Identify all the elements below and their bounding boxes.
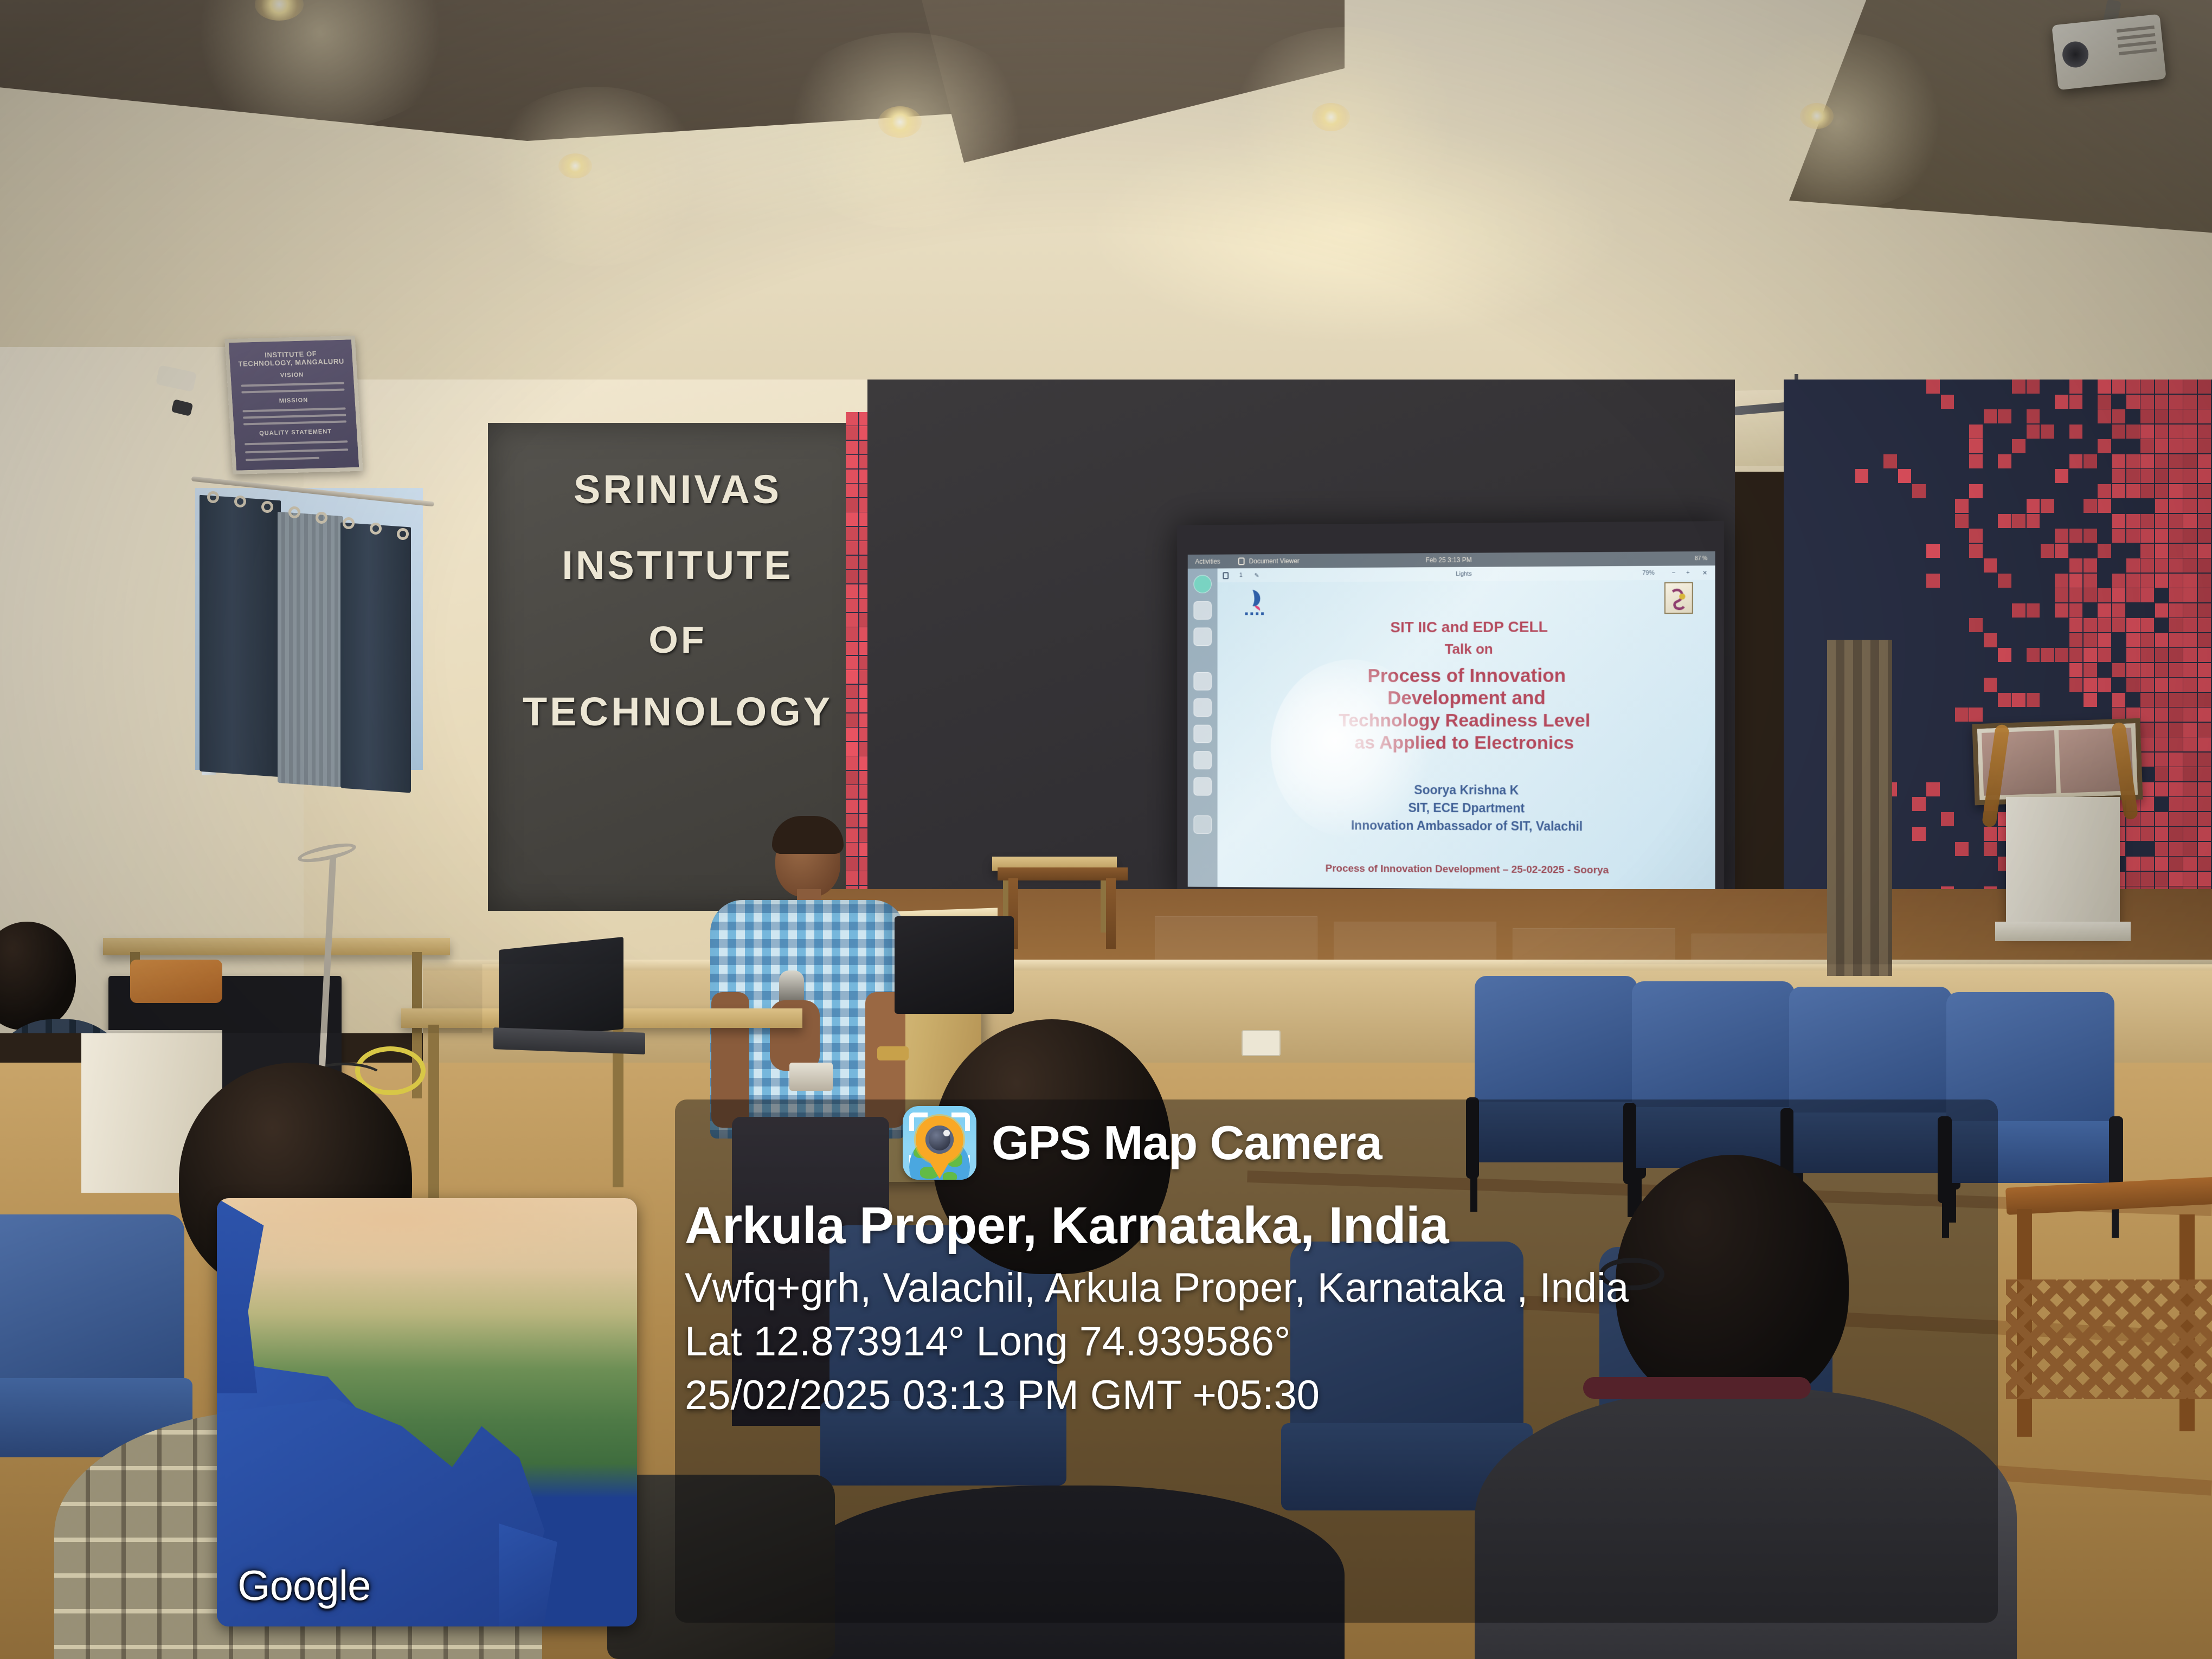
institute-name-line2: INSTITUTE: [488, 542, 867, 588]
document-viewer-toolbar: 1 ✎ Lights 79% − + ✕: [1218, 565, 1715, 582]
slide-title-line-4: as Applied to Electronics: [1227, 732, 1705, 755]
downlight-glow: [483, 87, 710, 266]
notice-board-section-mission: MISSION: [232, 396, 355, 406]
place-title: Arkula Proper, Karnataka, India: [685, 1196, 1987, 1256]
curtain-left: [200, 495, 281, 777]
google-watermark: Google: [237, 1561, 371, 1610]
dock-icon-terminal[interactable]: [1193, 672, 1211, 691]
show-applications-icon[interactable]: [1193, 815, 1211, 834]
photo-canvas: INSTITUTE OF TECHNOLOGY, MANGALURU VISIO…: [0, 0, 2212, 1659]
slide-heading-1: SIT IIC and EDP CELL: [1257, 618, 1685, 636]
annotate-icon[interactable]: ✎: [1254, 571, 1259, 578]
slide-heading-2: Talk on: [1257, 640, 1685, 658]
battery-indicator[interactable]: 87 %: [1695, 555, 1707, 561]
coordinates: Lat 12.873914° Long 74.939586°: [685, 1318, 1987, 1365]
slide-presenter-name: Soorya Krishna K: [1247, 782, 1690, 799]
desktop-dock[interactable]: [1188, 568, 1218, 887]
speaker-id-badge: [789, 1063, 833, 1091]
page-number[interactable]: 1: [1239, 572, 1243, 578]
location-text-block: Arkula Proper, Karnataka, India Vwfq+grh…: [685, 1196, 1987, 1425]
ceiling-projector: [2052, 14, 2166, 90]
dock-icon-editor[interactable]: [1193, 725, 1211, 743]
sidebar-toggle-icon[interactable]: [1223, 572, 1229, 579]
projector-vent: [2117, 25, 2155, 33]
camera-lens-icon: [925, 1126, 954, 1154]
curtain-sheer: [278, 512, 343, 787]
institute-emblem-icon: [1664, 582, 1693, 614]
gps-map-camera-overlay: GPS Map Camera Arkula Proper, Karnataka,…: [675, 1099, 1998, 1623]
ceiling-light-4: [1800, 103, 1834, 129]
slide-title-line-3: Technology Readiness Level: [1227, 710, 1705, 732]
iic-logo-icon: [1242, 587, 1273, 618]
fire-bucket: [130, 960, 222, 1003]
wall-socket-1: [1242, 1030, 1281, 1056]
zoom-out-icon[interactable]: −: [1672, 570, 1676, 576]
dock-icon-search[interactable]: [1193, 751, 1211, 769]
zoom-level[interactable]: 79%: [1642, 570, 1654, 576]
dock-icon-files[interactable]: [1193, 628, 1211, 646]
pa-speaker: [895, 916, 1014, 1014]
downlight-glow: [1724, 33, 1952, 211]
projected-desktop: Activities Document Viewer Feb 25 3:13 P…: [1188, 551, 1715, 891]
notice-board-title: INSTITUTE OF TECHNOLOGY, MANGALURU: [236, 349, 345, 368]
projector-lens-icon: [2061, 40, 2090, 69]
ceiling-light-2: [878, 106, 922, 138]
laptop-screen: [499, 937, 623, 1042]
notice-board-section-vision: VISION: [230, 370, 353, 380]
zoom-in-icon[interactable]: +: [1686, 569, 1690, 576]
activities-button[interactable]: Activities: [1195, 558, 1220, 565]
notice-board-section-quality: QUALITY STATEMENT: [234, 428, 357, 438]
side-table-left: [103, 938, 450, 955]
map-pin-icon: [916, 1116, 963, 1163]
brand-row: GPS Map Camera: [903, 1106, 1382, 1180]
ceiling-light-5: [558, 153, 592, 178]
gps-map-camera-logo-icon: [903, 1106, 976, 1180]
timestamp: 25/02/2025 03:13 PM GMT +05:30: [685, 1372, 1987, 1419]
document-title: Lights: [1456, 571, 1471, 577]
notice-board: INSTITUTE OF TECHNOLOGY, MANGALURU VISIO…: [224, 336, 363, 474]
institute-name-line4: TECHNOLOGY: [488, 689, 867, 735]
slide-footer: Process of Innovation Development – 25-0…: [1237, 863, 1700, 877]
brand-name: GPS Map Camera: [992, 1115, 1382, 1171]
close-icon[interactable]: ✕: [1702, 569, 1707, 576]
side-drape: [1827, 640, 1892, 976]
ceiling-light-3: [1312, 103, 1350, 131]
dock-icon-document[interactable]: [1193, 698, 1211, 717]
institute-name-line3: OF: [488, 618, 867, 661]
wooden-chair-lattice: [2006, 1279, 2212, 1399]
pedestal: [2006, 797, 2120, 933]
document-viewer-icon: [1238, 557, 1245, 565]
slide-presenter-role: Innovation Ambassador of SIT, Valachil: [1237, 817, 1700, 835]
dock-icon-browser[interactable]: [1193, 575, 1211, 593]
app-menu-label[interactable]: Document Viewer: [1249, 557, 1300, 565]
curtain-right: [340, 522, 411, 793]
document-viewer-window: 1 ✎ Lights 79% − + ✕: [1218, 565, 1715, 890]
slide-title-line-2: Development and: [1237, 687, 1700, 710]
dock-icon-misc[interactable]: [1193, 777, 1211, 796]
projection-screen: Activities Document Viewer Feb 25 3:13 P…: [1177, 521, 1724, 905]
map-thumbnail[interactable]: Google: [217, 1198, 637, 1626]
speaker-watch: [877, 1046, 909, 1060]
dock-icon-latex[interactable]: [1193, 601, 1211, 620]
slide-title-line-1: Process of Innovation: [1237, 665, 1700, 687]
slide-presenter-department: SIT, ECE Dpartment: [1247, 800, 1690, 818]
institute-name-line1: SRINIVAS: [488, 466, 867, 512]
desktop-clock[interactable]: Feb 25 3:13 PM: [1425, 556, 1471, 564]
pedestal-base: [1995, 922, 2131, 941]
full-address: Vwfq+grh, Valachil, Arkula Proper, Karna…: [685, 1264, 1987, 1311]
